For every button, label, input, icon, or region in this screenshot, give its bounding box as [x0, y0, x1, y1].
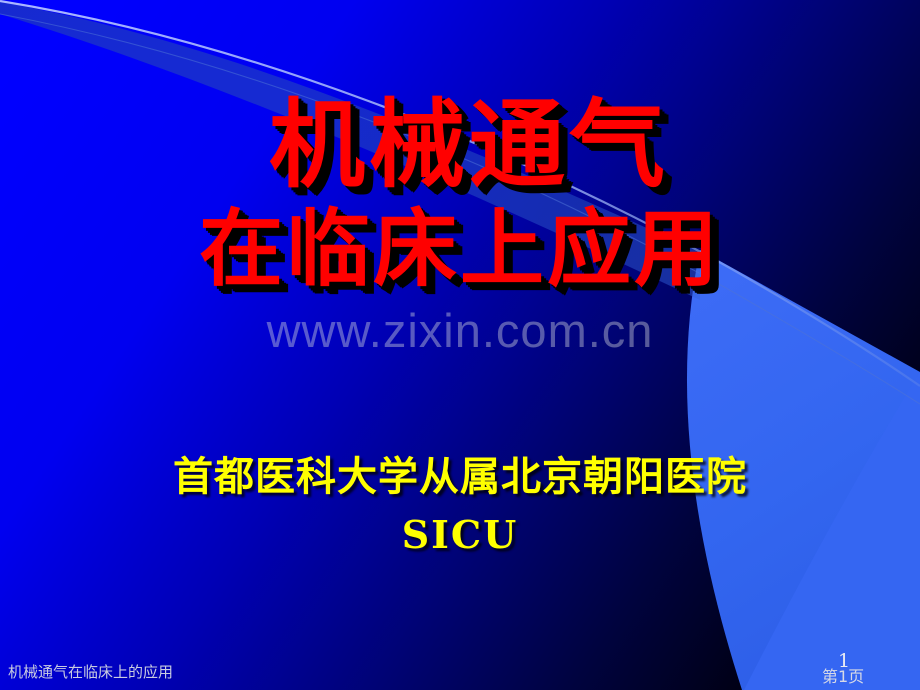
subtitle-organization: 首都医科大学从属北京朝阳医院	[0, 444, 920, 502]
footer-page-indicator: 1 第1页	[812, 650, 902, 690]
title-line-2: 在临床上应用	[0, 206, 920, 293]
slide-subtitle: 首都医科大学从属北京朝阳医院 SICU	[0, 444, 920, 557]
presentation-slide: www.zixin.com.cn 机械通气 在临床上应用 首都医科大学从属北京朝…	[0, 0, 920, 690]
footer-title-text: 机械通气在临床上的应用	[8, 661, 173, 682]
page-label: 第1页	[822, 663, 864, 687]
slide-title: 机械通气 在临床上应用	[0, 96, 920, 293]
subtitle-department: SICU	[0, 512, 920, 557]
title-line-1: 机械通气	[0, 96, 920, 196]
